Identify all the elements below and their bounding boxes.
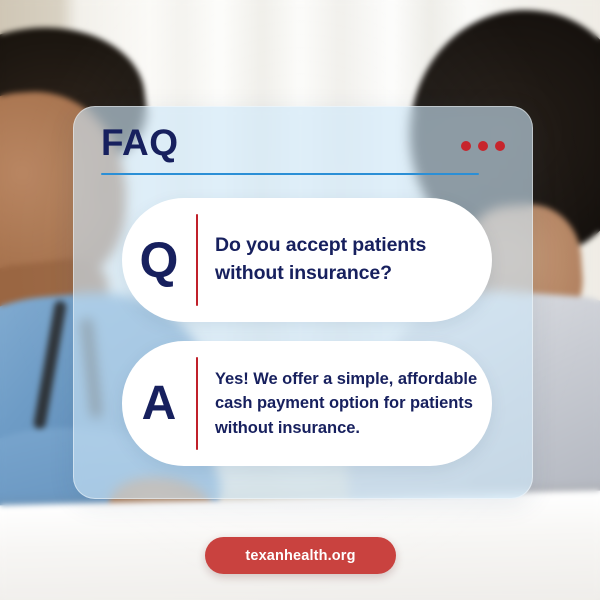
question-letter: Q (122, 235, 196, 285)
website-url-badge[interactable]: texanhealth.org (205, 537, 396, 574)
faq-panel: FAQ Q Do you accept patients without ins… (73, 106, 533, 499)
answer-text: Yes! We offer a simple, affordable cash … (198, 367, 492, 440)
dots-indicator (461, 141, 505, 151)
question-text: Do you accept patients without insurance… (198, 232, 492, 287)
answer-letter: A (122, 380, 196, 428)
red-dot-icon (495, 141, 505, 151)
header-divider (101, 173, 479, 175)
red-dot-icon (478, 141, 488, 151)
faq-header: FAQ (101, 124, 505, 190)
red-dot-icon (461, 141, 471, 151)
faq-social-graphic: FAQ Q Do you accept patients without ins… (0, 0, 600, 600)
question-card: Q Do you accept patients without insuran… (122, 198, 492, 322)
page-title: FAQ (101, 124, 179, 161)
answer-card: A Yes! We offer a simple, affordable cas… (122, 341, 492, 466)
